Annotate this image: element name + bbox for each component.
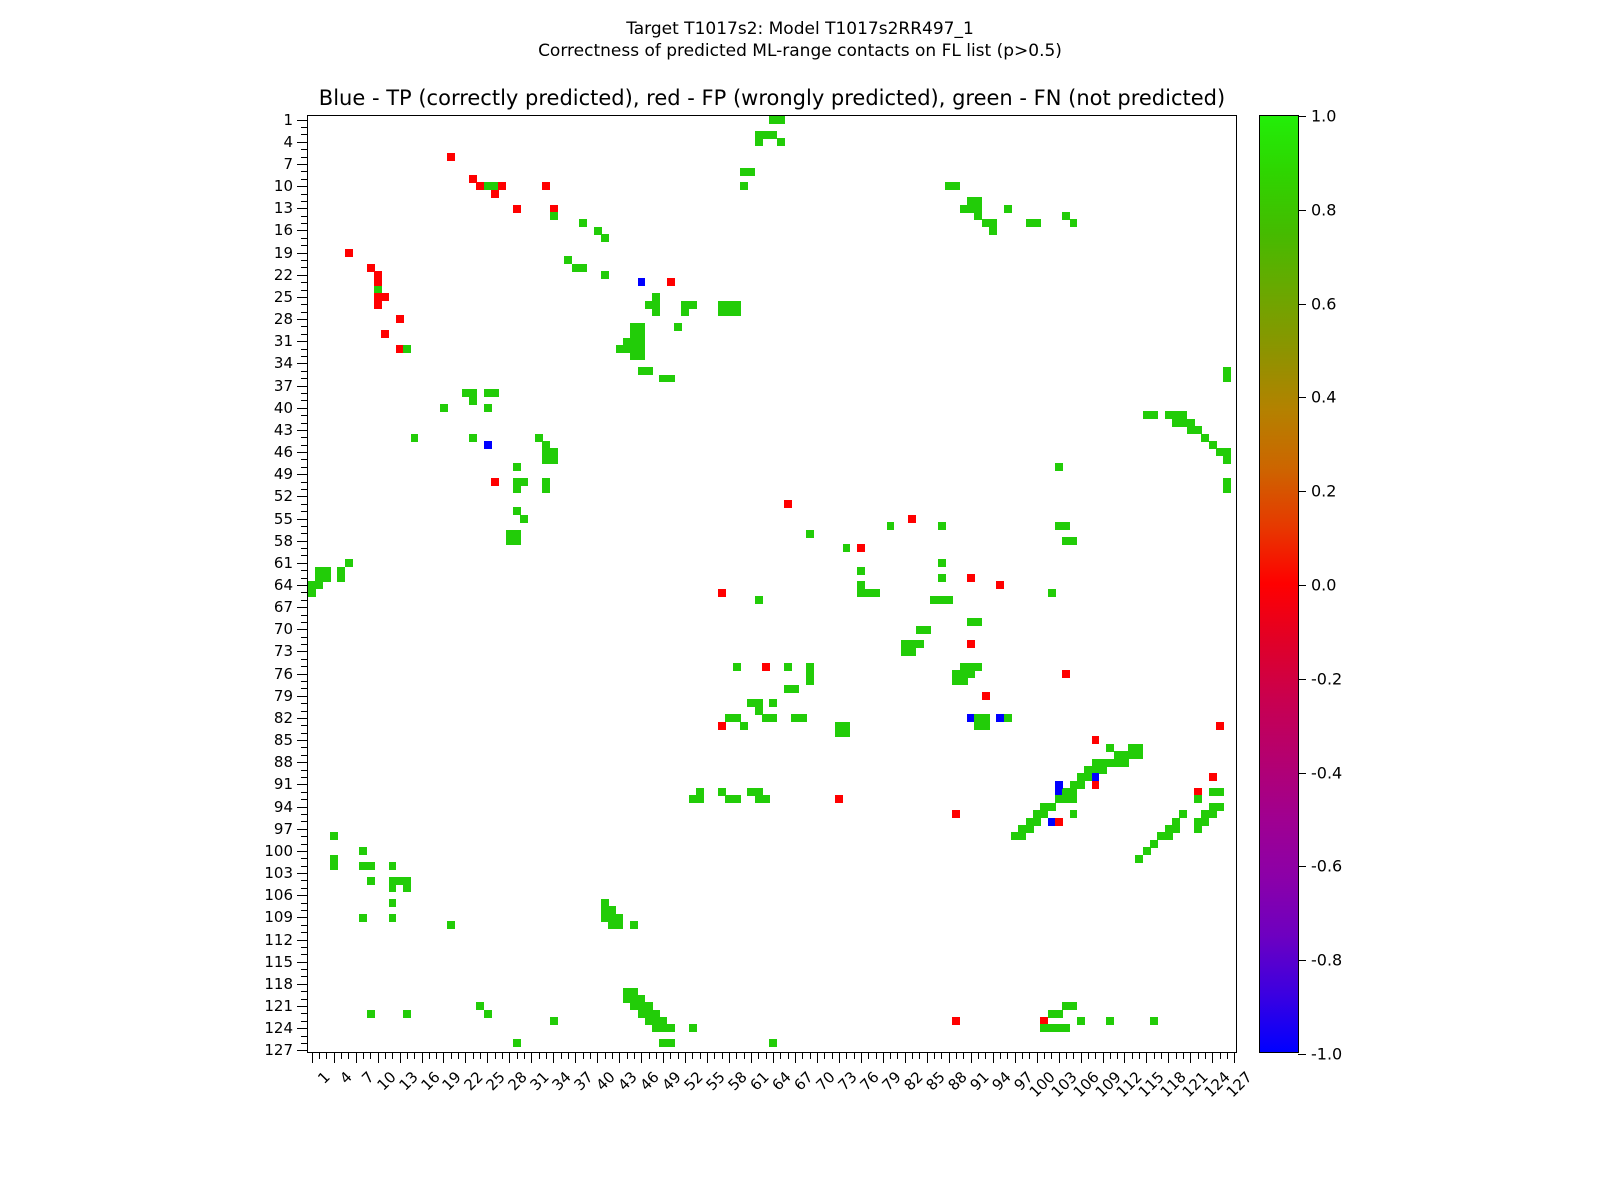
- contact-cell-fn: [777, 116, 785, 124]
- x-tick: [707, 1052, 708, 1063]
- y-tick: [301, 976, 308, 977]
- colorbar-tick-label: 0.4: [1311, 388, 1336, 407]
- y-tick: [297, 585, 308, 586]
- y-tick: [301, 600, 308, 601]
- colorbar-tick: [1298, 679, 1306, 680]
- contact-cell-fn: [755, 596, 763, 604]
- x-tick: [575, 1052, 576, 1063]
- contact-cell-fn: [550, 456, 558, 464]
- contact-cell-fn: [447, 921, 455, 929]
- x-tick: [744, 1052, 745, 1059]
- x-tick: [1183, 1052, 1184, 1059]
- contact-cell-fn: [440, 404, 448, 412]
- contact-cell-fn: [652, 308, 660, 316]
- y-tick: [301, 378, 308, 379]
- contact-cell-fp: [491, 190, 499, 198]
- x-tick: [605, 1052, 606, 1059]
- contact-cell-fn: [520, 515, 528, 523]
- contact-cell-fn: [550, 1017, 558, 1025]
- x-tick: [612, 1052, 613, 1059]
- contact-cell-fp: [345, 249, 353, 257]
- y-tick: [301, 592, 308, 593]
- contact-cell-fn: [1033, 818, 1041, 826]
- x-tick: [451, 1052, 452, 1059]
- contact-cell-fn: [1099, 766, 1107, 774]
- contact-cell-fn: [330, 832, 338, 840]
- x-tick: [714, 1052, 715, 1059]
- y-tick: [301, 836, 308, 837]
- x-tick: [1059, 1052, 1060, 1063]
- contact-cell-fn: [1172, 825, 1180, 833]
- colorbar-tick: [1298, 116, 1306, 117]
- y-tick: [301, 555, 308, 556]
- y-tick: [301, 777, 308, 778]
- contact-cell-fn: [330, 862, 338, 870]
- colorbar[interactable]: 1.00.80.60.40.20.0-0.2-0.4-0.6-0.8-1.0: [1259, 115, 1299, 1053]
- x-tick: [326, 1052, 327, 1059]
- contact-cell-fp: [857, 544, 865, 552]
- x-tick: [1022, 1052, 1023, 1059]
- figure-suptitle: Target T1017s2: Model T1017s2RR497_1 Cor…: [0, 18, 1600, 62]
- x-tick: [473, 1052, 474, 1059]
- x-tick: [312, 1052, 313, 1063]
- contact-cell-fn: [411, 434, 419, 442]
- contact-cell-fn: [960, 677, 968, 685]
- contact-cell-fn: [674, 323, 682, 331]
- x-tick: [1029, 1052, 1030, 1059]
- suptitle-line-2: Correctness of predicted ML-range contac…: [538, 41, 1062, 61]
- y-tick: [297, 341, 308, 342]
- y-tick: [301, 304, 308, 305]
- colorbar-tick: [1298, 491, 1306, 492]
- x-tick: [546, 1052, 547, 1059]
- x-tick-label: 1: [314, 1068, 333, 1087]
- contact-cell-fn: [872, 589, 880, 597]
- y-tick: [297, 452, 308, 453]
- contact-cell-fp: [396, 315, 404, 323]
- y-tick: [301, 216, 308, 217]
- contact-cell-fp: [381, 330, 389, 338]
- contact-cell-fn: [1055, 1010, 1063, 1018]
- y-tick-label: 121: [264, 997, 293, 1015]
- contact-cell-fn: [681, 308, 689, 316]
- contact-cell-fn: [799, 714, 807, 722]
- colorbar-tick: [1298, 397, 1306, 398]
- y-tick: [297, 895, 308, 896]
- contact-cell-fn: [1223, 375, 1231, 383]
- x-tick: [363, 1052, 364, 1059]
- y-tick: [301, 1021, 308, 1022]
- y-tick-label: 76: [274, 665, 293, 683]
- y-tick-label: 49: [274, 465, 293, 483]
- y-tick: [301, 711, 308, 712]
- colorbar-tick-label: 0.2: [1311, 482, 1336, 501]
- x-tick: [480, 1052, 481, 1059]
- contact-cell-fn: [952, 182, 960, 190]
- y-tick-label: 7: [283, 155, 293, 173]
- contact-cell-fn: [938, 522, 946, 530]
- x-tick: [890, 1052, 891, 1059]
- contact-cell-fn: [616, 921, 624, 929]
- x-tick: [1044, 1052, 1045, 1059]
- contact-cell-fn: [777, 138, 785, 146]
- y-tick-label: 85: [274, 731, 293, 749]
- contact-cell-fp: [667, 278, 675, 286]
- contact-cell-fn: [1026, 825, 1034, 833]
- x-tick: [385, 1052, 386, 1059]
- contact-cell-fn: [1165, 832, 1173, 840]
- y-tick-label: 118: [264, 975, 293, 993]
- contact-cell-fn: [784, 663, 792, 671]
- x-tick: [407, 1052, 408, 1059]
- x-tick: [868, 1052, 869, 1059]
- x-tick: [1176, 1052, 1177, 1059]
- y-tick: [297, 851, 308, 852]
- y-tick-label: 55: [274, 510, 293, 528]
- x-tick: [839, 1052, 840, 1063]
- x-tick: [319, 1052, 320, 1059]
- x-tick: [1103, 1052, 1104, 1063]
- contact-cell-fn: [638, 352, 646, 360]
- y-tick-label: 16: [274, 221, 293, 239]
- y-tick-label: 28: [274, 310, 293, 328]
- contact-cell-fn: [1004, 714, 1012, 722]
- contact-cell-fn: [469, 434, 477, 442]
- y-tick: [301, 622, 308, 623]
- contact-cell-fn: [1135, 751, 1143, 759]
- contact-cell-fn: [1179, 810, 1187, 818]
- contact-cell-fn: [1106, 1017, 1114, 1025]
- y-tick: [301, 888, 308, 889]
- x-tick: [1110, 1052, 1111, 1059]
- y-tick: [297, 807, 308, 808]
- y-tick-label: 52: [274, 487, 293, 505]
- colorbar-tick-label: 0.8: [1311, 200, 1336, 219]
- y-tick-label: 37: [274, 377, 293, 395]
- contact-cell-fp: [718, 722, 726, 730]
- x-tick: [495, 1052, 496, 1059]
- x-tick: [817, 1052, 818, 1063]
- contact-cell-fn: [755, 138, 763, 146]
- colorbar-tick: [1298, 773, 1306, 774]
- y-tick: [297, 230, 308, 231]
- y-tick-label: 46: [274, 443, 293, 461]
- x-tick: [429, 1052, 430, 1059]
- y-tick: [301, 437, 308, 438]
- x-tick: [971, 1052, 972, 1063]
- contact-cell-fn: [520, 478, 528, 486]
- y-tick: [297, 1050, 308, 1051]
- x-tick: [846, 1052, 847, 1059]
- y-tick: [301, 423, 308, 424]
- contact-cell-fn: [1070, 219, 1078, 227]
- contact-cell-fn: [367, 877, 375, 885]
- x-tick: [773, 1052, 774, 1063]
- contact-cell-fp: [381, 293, 389, 301]
- contact-cell-fn: [1062, 522, 1070, 530]
- y-tick: [297, 408, 308, 409]
- x-tick: [356, 1052, 357, 1063]
- x-tick: [905, 1052, 906, 1063]
- y-tick-label: 115: [264, 953, 293, 971]
- y-tick: [301, 733, 308, 734]
- y-tick-label: 31: [274, 332, 293, 350]
- colorbar-tick-label: 0.0: [1311, 576, 1336, 595]
- x-tick: [458, 1052, 459, 1059]
- contact-cell-fp: [967, 640, 975, 648]
- contact-cell-fn: [769, 699, 777, 707]
- y-tick-label: 13: [274, 199, 293, 217]
- x-tick: [1095, 1052, 1096, 1059]
- x-tick: [341, 1052, 342, 1059]
- x-tick: [414, 1052, 415, 1059]
- contact-cell-fn: [1048, 589, 1056, 597]
- contact-cell-fn: [791, 685, 799, 693]
- y-tick: [301, 223, 308, 224]
- x-tick: [685, 1052, 686, 1063]
- contact-cell-fn: [367, 862, 375, 870]
- contact-cell-fn: [762, 795, 770, 803]
- contact-cell-fn: [982, 722, 990, 730]
- colorbar-tick-label: -0.2: [1311, 669, 1342, 688]
- y-tick: [301, 578, 308, 579]
- x-tick: [1139, 1052, 1140, 1059]
- colorbar-tick: [1298, 960, 1306, 961]
- y-tick: [301, 290, 308, 291]
- y-tick: [297, 674, 308, 675]
- x-tick: [487, 1052, 488, 1063]
- y-tick: [297, 962, 308, 963]
- y-tick: [301, 991, 308, 992]
- y-tick-label: 103: [264, 864, 293, 882]
- contact-map-plot-area[interactable]: 1471013161922252831343740434649525558616…: [307, 115, 1237, 1053]
- contact-cell-fn: [403, 345, 411, 353]
- y-tick: [301, 932, 308, 933]
- y-tick: [301, 134, 308, 135]
- y-tick: [301, 866, 308, 867]
- y-tick-label: 82: [274, 709, 293, 727]
- x-tick: [876, 1052, 877, 1059]
- y-tick: [301, 725, 308, 726]
- y-tick-label: 109: [264, 908, 293, 926]
- y-tick-label: 94: [274, 798, 293, 816]
- y-tick: [301, 969, 308, 970]
- y-tick: [297, 253, 308, 254]
- x-tick: [583, 1052, 584, 1059]
- y-tick-label: 10: [274, 177, 293, 195]
- y-tick: [301, 1036, 308, 1037]
- y-tick: [301, 179, 308, 180]
- y-tick: [297, 873, 308, 874]
- contact-cell-fn: [542, 485, 550, 493]
- y-tick: [301, 688, 308, 689]
- x-tick: [919, 1052, 920, 1059]
- y-tick-label: 73: [274, 642, 293, 660]
- x-tick: [422, 1052, 423, 1063]
- y-tick: [301, 482, 308, 483]
- y-tick: [301, 356, 308, 357]
- x-tick: [568, 1052, 569, 1059]
- y-tick-label: 79: [274, 687, 293, 705]
- y-tick-label: 19: [274, 244, 293, 262]
- contact-cell-fn: [1201, 818, 1209, 826]
- contact-cell-fp: [498, 182, 506, 190]
- x-tick: [392, 1052, 393, 1059]
- contact-cell-fp: [542, 182, 550, 190]
- contact-cell-fn: [550, 212, 558, 220]
- contact-cell-fn: [389, 862, 397, 870]
- contact-cell-fn: [323, 574, 331, 582]
- contact-cell-fn: [1070, 810, 1078, 818]
- x-tick: [1161, 1052, 1162, 1059]
- contact-cell-fn: [337, 574, 345, 582]
- y-tick: [297, 297, 308, 298]
- contact-cell-fn: [1223, 456, 1231, 464]
- y-tick: [301, 334, 308, 335]
- contact-cell-fn: [938, 559, 946, 567]
- contact-cell-fn: [974, 663, 982, 671]
- x-tick-label: 7: [358, 1068, 377, 1087]
- x-tick: [1124, 1052, 1125, 1063]
- contact-cell-fn: [857, 567, 865, 575]
- contact-cell-fn: [630, 921, 638, 929]
- y-tick: [297, 275, 308, 276]
- y-tick: [301, 548, 308, 549]
- y-tick: [297, 142, 308, 143]
- contact-cell-fn: [1077, 1017, 1085, 1025]
- y-tick: [301, 925, 308, 926]
- contact-cell-fn: [601, 234, 609, 242]
- contact-cell-fn: [579, 264, 587, 272]
- x-tick: [1190, 1052, 1191, 1063]
- x-tick: [810, 1052, 811, 1059]
- contact-cell-fn: [755, 707, 763, 715]
- contact-cell-fp: [996, 581, 1004, 589]
- y-tick: [301, 201, 308, 202]
- contact-cell-fn: [1070, 1002, 1078, 1010]
- x-tick: [832, 1052, 833, 1059]
- y-tick: [301, 637, 308, 638]
- x-tick: [634, 1052, 635, 1059]
- y-tick: [301, 245, 308, 246]
- y-tick: [301, 238, 308, 239]
- contact-cell-fn: [1194, 825, 1202, 833]
- x-tick: [1227, 1052, 1228, 1059]
- contact-cell-fn: [1070, 537, 1078, 545]
- x-tick: [1037, 1052, 1038, 1063]
- y-tick: [301, 999, 308, 1000]
- x-tick: [400, 1052, 401, 1063]
- contact-cell-fp: [1092, 781, 1100, 789]
- y-tick: [297, 740, 308, 741]
- colorbar-tick-label: -0.6: [1311, 857, 1342, 876]
- x-tick: [1220, 1052, 1221, 1059]
- y-tick: [301, 489, 308, 490]
- x-tick: [334, 1052, 335, 1063]
- y-tick: [297, 784, 308, 785]
- y-tick: [301, 755, 308, 756]
- x-tick: [934, 1052, 935, 1059]
- y-tick: [297, 430, 308, 431]
- x-tick: [1132, 1052, 1133, 1059]
- contact-cell-fn: [740, 182, 748, 190]
- contact-cell-fn: [1150, 1017, 1158, 1025]
- y-tick: [301, 1043, 308, 1044]
- x-tick: [897, 1052, 898, 1059]
- suptitle-line-1: Target T1017s2: Model T1017s2RR497_1: [626, 19, 974, 39]
- y-tick-label: 61: [274, 554, 293, 572]
- y-tick-label: 1: [283, 111, 293, 129]
- x-tick: [758, 1052, 759, 1059]
- y-tick: [297, 186, 308, 187]
- y-tick: [301, 1013, 308, 1014]
- contact-cell-fn: [389, 914, 397, 922]
- x-tick: [436, 1052, 437, 1059]
- x-tick: [561, 1052, 562, 1059]
- contact-cell-fn: [740, 722, 748, 730]
- contact-cell-fn: [923, 626, 931, 634]
- x-tick: [736, 1052, 737, 1059]
- y-tick: [297, 208, 308, 209]
- contact-cell-fn: [967, 670, 975, 678]
- x-tick: [348, 1052, 349, 1059]
- x-tick: [956, 1052, 957, 1059]
- y-tick-label: 127: [264, 1041, 293, 1059]
- contact-cell-fn: [1062, 1024, 1070, 1032]
- x-tick: [788, 1052, 789, 1059]
- contact-cell-fn: [389, 899, 397, 907]
- contact-cell-fn: [733, 795, 741, 803]
- x-tick: [963, 1052, 964, 1059]
- y-tick: [301, 157, 308, 158]
- x-tick: [531, 1052, 532, 1063]
- y-tick: [301, 127, 308, 128]
- x-tick: [802, 1052, 803, 1059]
- y-tick: [297, 940, 308, 941]
- contact-cell-fn: [1077, 781, 1085, 789]
- contact-cell-fn: [1018, 832, 1026, 840]
- contact-cell-fn: [1033, 219, 1041, 227]
- contact-cell-fn: [315, 581, 323, 589]
- x-tick: [941, 1052, 942, 1059]
- x-tick: [729, 1052, 730, 1063]
- y-tick: [297, 519, 308, 520]
- y-tick: [297, 120, 308, 121]
- x-tick: [1007, 1052, 1008, 1059]
- y-tick: [301, 703, 308, 704]
- y-tick: [297, 363, 308, 364]
- y-tick: [301, 947, 308, 948]
- contact-cell-fn: [1143, 847, 1151, 855]
- y-tick-label: 88: [274, 753, 293, 771]
- y-tick-label: 43: [274, 421, 293, 439]
- x-tick: [1146, 1052, 1147, 1063]
- contact-cell-fn: [1216, 788, 1224, 796]
- contact-cell-fn: [359, 847, 367, 855]
- colorbar-tick-label: 0.6: [1311, 294, 1336, 313]
- contact-cell-fn: [1055, 463, 1063, 471]
- x-tick: [597, 1052, 598, 1063]
- contact-cell-fp: [718, 589, 726, 597]
- y-tick: [297, 496, 308, 497]
- contact-cell-fn: [484, 1010, 492, 1018]
- x-tick: [670, 1052, 671, 1059]
- x-tick: [692, 1052, 693, 1059]
- contact-cell-fn: [1048, 803, 1056, 811]
- y-tick-label: 97: [274, 820, 293, 838]
- colorbar-tick-label: -1.0: [1311, 1045, 1342, 1064]
- y-tick: [297, 1006, 308, 1007]
